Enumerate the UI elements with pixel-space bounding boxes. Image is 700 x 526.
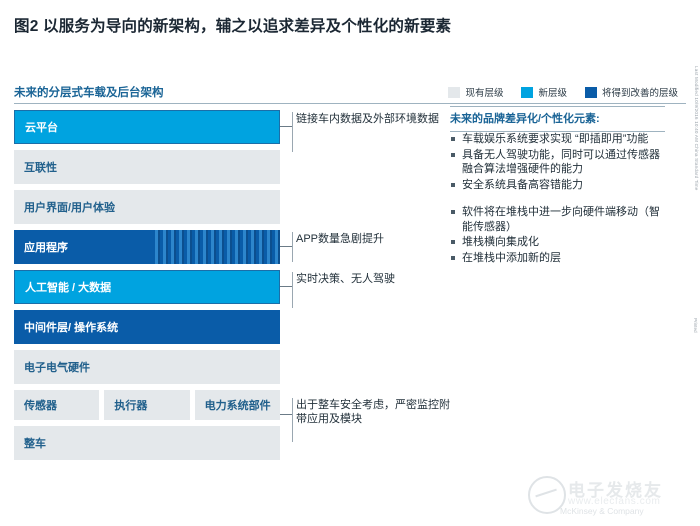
layer-label: 电子电气硬件 (24, 359, 90, 375)
right-panel-list-two: 软件将在堆栈中进一步向硬件端移动（智能传感器） 堆栈横向集成化 在堆栈中添加新的… (450, 205, 665, 265)
layer-row-applications: 应用程序 (14, 230, 280, 264)
right-panel: 未来的品牌差异化/个性化元素: 车载娱乐系统要求实现 “即插即用”功能 具备无人… (450, 106, 665, 266)
layer-label: 互联性 (24, 159, 57, 175)
list-item: 在堆栈中添加新的层 (450, 251, 665, 266)
legend-label-new: 新层级 (538, 85, 567, 99)
right-panel-list-one: 车载娱乐系统要求实现 “即插即用”功能 具备无人驾驶功能，同时可以通过传感器融合… (450, 132, 665, 192)
legend-item-improved: 将得到改善的层级 (585, 85, 678, 99)
layer-row-ee-hardware: 电子电气硬件 (14, 350, 280, 384)
layer-row-vehicle: 整车 (14, 426, 280, 460)
connector-dash (280, 126, 292, 127)
exhibit-header: 未来的分层式车载及后台架构 现有层级 新层级 将得到改善的层级 (14, 84, 686, 104)
connector-dash (280, 246, 292, 247)
component-cell-powertrain: 电力系统部件 (195, 390, 280, 420)
connector-vbar (292, 398, 293, 442)
annotation-components: 出于整车安全考虑，严密监控附 带应用及模块 (296, 398, 496, 426)
list-item: 车载娱乐系统要求实现 “即插即用”功能 (450, 132, 665, 147)
annotation-apps: APP数量急剧提升 (296, 232, 456, 246)
layer-stack: 云平台 互联性 用户界面/用户体验 应用程序 人工智能 / 大数据 中间件层/ … (14, 110, 280, 466)
exhibit-header-title: 未来的分层式车载及后台架构 (14, 84, 164, 100)
connector-vbar (292, 272, 293, 308)
page-title: 图2 以服务为导向的新架构，辅之以追求差异及个性化的新要素 (14, 14, 451, 36)
header-divider (14, 103, 686, 104)
exhibit-root: 图2 以服务为导向的新架构，辅之以追求差异及个性化的新要素 未来的分层式车载及后… (0, 0, 700, 526)
layer-row-middleware-os: 中间件层/ 操作系统 (14, 310, 280, 344)
layer-label: 人工智能 / 大数据 (25, 279, 111, 295)
connector-dash (280, 286, 292, 287)
connector-dash (280, 414, 292, 415)
legend-swatch-existing (448, 87, 460, 98)
legend-item-existing: 现有层级 (448, 85, 503, 99)
legend-swatch-new (521, 87, 533, 98)
stripe-pattern (152, 230, 280, 264)
layer-label: 用户界面/用户体验 (24, 199, 115, 215)
layer-row-cloud: 云平台 (14, 110, 280, 144)
component-label: 电力系统部件 (205, 397, 271, 413)
layer-label: 应用程序 (24, 239, 68, 255)
component-label: 传感器 (24, 397, 57, 413)
layer-row-connectivity: 互联性 (14, 150, 280, 184)
legend: 现有层级 新层级 将得到改善的层级 (448, 85, 678, 99)
component-cell-actuators: 执行器 (104, 390, 189, 420)
legend-label-existing: 现有层级 (465, 85, 503, 99)
layer-row-ai-bigdata: 人工智能 / 大数据 (14, 270, 280, 304)
source-credit: McKinsey & Company (560, 506, 644, 516)
legend-label-improved: 将得到改善的层级 (602, 85, 678, 99)
list-item: 具备无人驾驶功能，同时可以通过传感器融合算法增强硬件的能力 (450, 148, 665, 177)
layer-label: 云平台 (25, 119, 58, 135)
side-meta-text-primary: Last Modified 10/9/2016 10:40 AM China S… (694, 66, 699, 191)
watermark: 电子发烧友 www.elecfans.com McKinsey & Compan… (516, 470, 696, 522)
list-item: 堆栈横向集成化 (450, 235, 665, 250)
layer-row-components: 传感器 执行器 电力系统部件 (14, 390, 280, 420)
list-item: 安全系统具备高容错能力 (450, 178, 665, 193)
layer-row-ui-ux: 用户界面/用户体验 (14, 190, 280, 224)
layer-label: 中间件层/ 操作系统 (24, 319, 118, 335)
component-cell-sensors: 传感器 (14, 390, 99, 420)
annotation-ai: 实时决策、无人驾驶 (296, 272, 456, 286)
component-label: 执行器 (114, 397, 147, 413)
right-panel-gap (450, 193, 665, 205)
legend-swatch-improved (585, 87, 597, 98)
legend-item-new: 新层级 (521, 85, 567, 99)
right-panel-title: 未来的品牌差异化/个性化元素: (450, 107, 665, 131)
connector-vbar (292, 112, 293, 152)
list-item: 软件将在堆栈中进一步向硬件端移动（智能传感器） (450, 205, 665, 234)
connector-vbar (292, 232, 293, 262)
layer-label: 整车 (24, 435, 46, 451)
side-meta-text-secondary: Printed (693, 318, 698, 333)
